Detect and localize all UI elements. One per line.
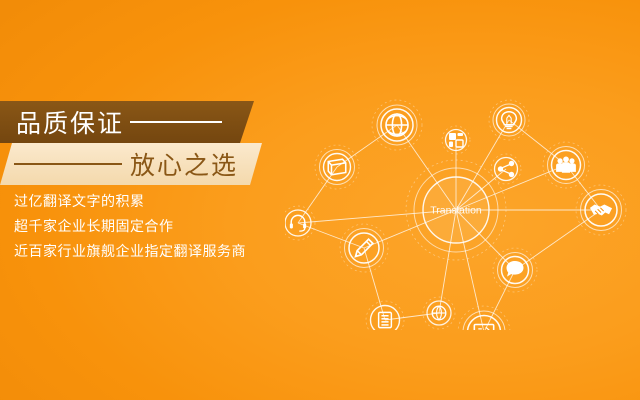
headline-top-rule	[130, 121, 222, 123]
headline-banner: 品质保证 放心之选	[0, 101, 268, 185]
node-people	[543, 142, 589, 188]
list-item: 超千家企业长期固定合作	[14, 215, 314, 240]
node-document	[366, 301, 404, 330]
headline-bottom-bar: 放心之选	[0, 143, 262, 185]
monitor-icon	[474, 325, 493, 330]
selling-point-list: 过亿翻译文字的积累 超千家企业长期固定合作 近百家行业旗舰企业指定翻译服务商	[14, 190, 314, 265]
headline-bottom-rule	[14, 163, 122, 165]
people-group-icon	[556, 157, 576, 173]
globe-icon	[386, 114, 408, 136]
handshake-icon	[590, 204, 612, 215]
node-globe	[372, 100, 422, 150]
chart-blocks-icon	[449, 133, 463, 147]
list-item: 近百家行业旗舰企业指定翻译服务商	[14, 240, 314, 265]
headline-bottom-text: 放心之选	[130, 146, 238, 182]
translation-network-graphic: Translation	[285, 70, 640, 330]
headline-top-bar: 品质保证	[0, 101, 254, 143]
list-item: 过亿翻译文字的积累	[14, 190, 314, 215]
node-chat	[493, 248, 537, 292]
speech-bubble-icon	[507, 261, 524, 277]
headline-top-text: 品质保证	[16, 104, 124, 140]
node-monitor	[458, 306, 510, 330]
node-camera	[423, 297, 455, 329]
camera-globe-icon	[432, 306, 446, 320]
center-node-label: Translation	[430, 205, 482, 217]
promo-banner-page: 品质保证 放心之选 过亿翻译文字的积累 超千家企业长期固定合作 近百家行业旗舰企…	[0, 0, 640, 400]
